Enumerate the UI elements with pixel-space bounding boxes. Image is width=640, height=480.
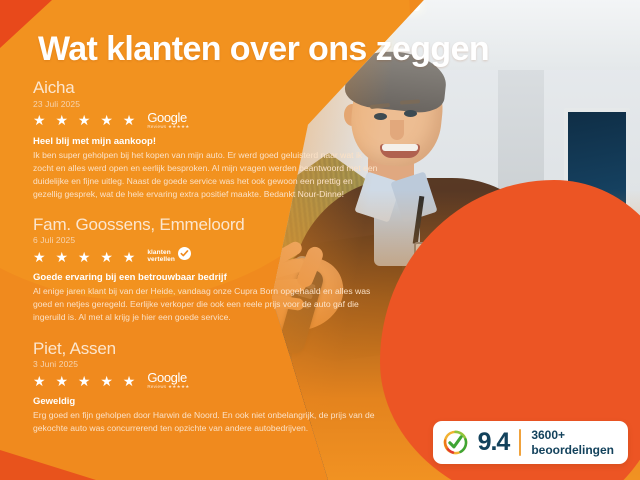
- rating-score: 9.4: [478, 430, 510, 455]
- star-rating-icon: ★ ★ ★ ★ ★: [33, 374, 138, 388]
- reviewer-name: Fam. Goossens, Emmeloord: [33, 215, 411, 235]
- google-wordmark: Google: [147, 111, 189, 124]
- review-body: Al enige jaren klant bij van der Heide, …: [33, 285, 381, 324]
- list-item: Fam. Goossens, Emmeloord 6 Juli 2025 ★ ★…: [33, 215, 411, 325]
- reviews-list: Aicha 23 Juli 2025 ★ ★ ★ ★ ★ Google Revi…: [33, 78, 411, 449]
- page-title: Wat klanten over ons zeggen: [38, 32, 489, 66]
- google-reviews-subtext: Reviews ★★★★★: [147, 125, 189, 130]
- rating-count-block: 3600+ beoordelingen: [531, 428, 614, 456]
- klantenvertellen-logo: klanten vertellen: [147, 247, 191, 266]
- google-wordmark: Google: [147, 371, 189, 384]
- star-rating-icon: ★ ★ ★ ★ ★: [33, 113, 138, 127]
- check-circle-icon: [178, 247, 191, 260]
- reviewer-name: Aicha: [33, 78, 411, 98]
- review-date: 6 Juli 2025: [33, 235, 411, 245]
- rating-count-label: beoordelingen: [531, 443, 614, 457]
- review-title: Geweldig: [33, 396, 411, 407]
- review-title: Heel blij met mijn aankoop!: [33, 136, 411, 147]
- google-reviews-logo: Google Reviews ★★★★★: [147, 111, 189, 130]
- google-reviews-logo: Google Reviews ★★★★★: [147, 371, 189, 390]
- google-reviews-subtext: Reviews ★★★★★: [147, 385, 189, 390]
- review-meta: ★ ★ ★ ★ ★ klanten vertellen: [33, 248, 411, 265]
- review-date: 23 Juli 2025: [33, 99, 411, 109]
- review-body: Ik ben super geholpen bij het kopen van …: [33, 149, 381, 201]
- rating-count: 3600+: [531, 428, 614, 442]
- review-title: Goede ervaring bij een betrouwbaar bedri…: [33, 272, 411, 283]
- review-meta: ★ ★ ★ ★ ★ Google Reviews ★★★★★: [33, 372, 411, 389]
- banner-stage: VDH Wat klanten over ons zeggen Aicha: [0, 0, 640, 480]
- klantenvertellen-line2: vertellen: [147, 257, 175, 264]
- list-item: Aicha 23 Juli 2025 ★ ★ ★ ★ ★ Google Revi…: [33, 78, 411, 201]
- review-meta: ★ ★ ★ ★ ★ Google Reviews ★★★★★: [33, 112, 411, 129]
- review-body: Erg goed en fijn geholpen door Harwin de…: [33, 409, 381, 435]
- list-item: Piet, Assen 3 Juni 2025 ★ ★ ★ ★ ★ Google…: [33, 339, 411, 436]
- badge-divider: [519, 429, 521, 456]
- star-rating-icon: ★ ★ ★ ★ ★: [33, 250, 138, 264]
- content-layer: Wat klanten over ons zeggen Aicha 23 Jul…: [0, 0, 640, 480]
- rating-badge[interactable]: 9.4 3600+ beoordelingen: [433, 421, 628, 464]
- klantenvertellen-wordmark: klanten vertellen: [147, 250, 175, 264]
- reviewer-name: Piet, Assen: [33, 339, 411, 359]
- klantenvertellen-check-icon: [443, 430, 468, 455]
- review-date: 3 Juni 2025: [33, 359, 411, 369]
